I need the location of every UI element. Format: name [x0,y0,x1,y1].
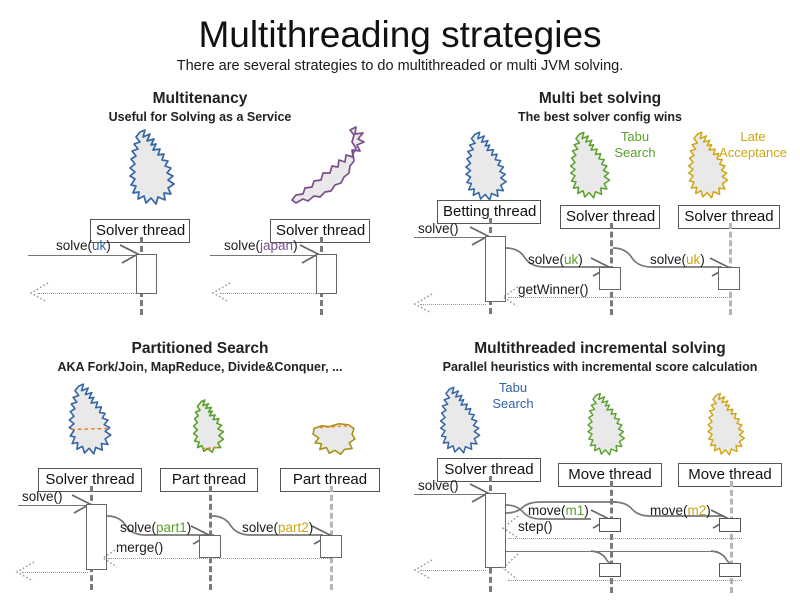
arrowhead-return-1 [28,281,50,305]
message-solve-japan: solve(japan) [224,238,298,253]
message-get-winner: getWinner() [518,282,589,297]
message-move-m2: move(m2) [650,503,711,518]
activation-move-2-round2 [719,563,741,577]
uk-map-blue [118,128,188,208]
message-merge: merge() [116,540,163,555]
japan-map-purple [290,126,368,208]
late-acceptance-line2: Acceptance [719,145,787,160]
tabu-search-inc-line1: Tabu [499,380,527,395]
arg-m1: m1 [566,503,585,518]
quadrant-title-multitenancy: Multitenancy [0,90,400,108]
tabu-search-label-inc: Tabu Search [478,380,548,413]
uk-map-part1-green [188,398,230,458]
activation-part-2 [320,535,342,558]
quadrant-title-incremental: Multithreaded incremental solving [400,340,800,358]
return-line-round2 [508,580,742,581]
quadrant-subtitle-incremental: Parallel heuristics with incremental sco… [400,360,800,374]
uk-map-green-inc [578,388,636,462]
activation-solver-1 [136,254,157,294]
uk-map-split [58,380,124,460]
arg-uk: uk [92,238,106,253]
message-solve-part2: solve(part2) [242,520,313,535]
message-step: step() [518,519,553,534]
quadrant-title-partitioned: Partitioned Search [0,340,400,358]
message-solve-part: solve() [22,489,63,504]
tabu-search-inc-line2: Search [492,396,533,411]
quadrant-title-multi-bet: Multi bet solving [400,90,800,108]
arg-uk-gold: uk [686,252,700,267]
page-subtitle: There are several strategies to do multi… [0,58,800,74]
arg-part2: part2 [278,520,309,535]
arrowhead-get-winner [500,285,520,309]
message-solve-uk: solve(uk) [56,238,111,253]
quadrant-subtitle-multi-bet: The best solver config wins [400,110,800,124]
arrowhead-return-inc [412,558,434,582]
arg-part1: part1 [156,520,187,535]
arrowhead-step [500,514,520,540]
return-line-step [508,538,742,539]
message-solve-uk-gold: solve(uk) [650,252,705,267]
arrowhead-return-part [14,560,36,584]
message-solve-bet: solve() [418,221,459,236]
message-move-m1: move(m1) [528,503,589,518]
quadrant-subtitle-multitenancy: Useful for Solving as a Service [0,110,400,124]
return-line-1 [38,293,138,294]
message-solve-uk-green: solve(uk) [528,252,583,267]
activation-move-2 [719,518,741,532]
return-line-2 [220,293,320,294]
quadrant-subtitle-partitioned: AKA Fork/Join, MapReduce, Divide&Conquer… [0,360,400,374]
arrowhead-return-round2 [500,552,520,582]
message-solve-part1: solve(part1) [120,520,191,535]
arrowhead-return-2 [210,281,232,305]
activation-solver-bet-2 [718,267,740,290]
return-line-merge [108,558,332,559]
activation-solver-2 [316,254,337,294]
return-line-get-winner-2 [508,297,612,298]
slide-canvas: Multithreading strategies There are seve… [0,0,800,600]
arg-uk-green: uk [564,252,578,267]
uk-map-blue-bet [455,128,519,206]
uk-map-part2-gold [310,420,358,458]
arg-m2: m2 [688,503,707,518]
late-acceptance-line1: Late [740,129,765,144]
arrowhead-merge [100,546,120,570]
tabu-search-line1: Tabu [621,129,649,144]
arrowhead-return-bet [412,292,434,316]
arg-japan: japan [260,238,293,253]
message-solve-inc: solve() [418,478,459,493]
uk-map-gold-inc [698,388,756,462]
late-acceptance-label: Late Acceptance [710,129,796,162]
call-line-move-round2-b [592,551,718,552]
tabu-search-line2: Search [614,145,655,160]
activation-move-1-round2 [599,563,621,577]
page-title: Multithreading strategies [0,14,800,56]
tabu-search-label-bet: Tabu Search [600,129,670,162]
